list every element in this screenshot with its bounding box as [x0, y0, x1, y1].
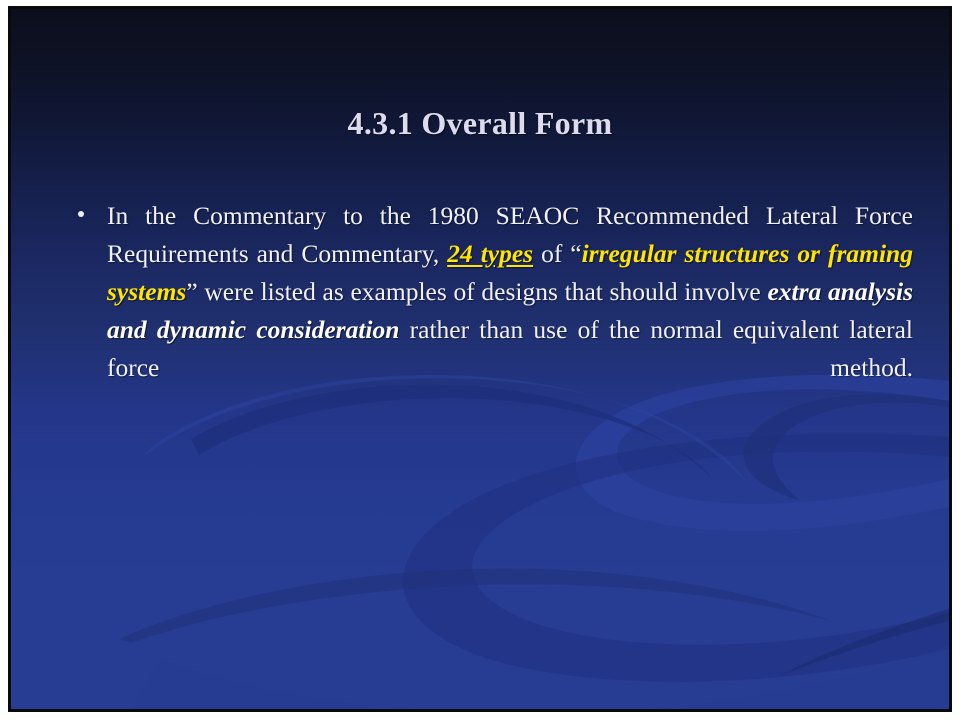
- bullet-dot-icon: [78, 211, 84, 217]
- list-item: In the Commentary to the 1980 SEAOC Reco…: [73, 197, 913, 425]
- text-run-of-quote-open: of “: [533, 239, 582, 268]
- page-title: 4.3.1 Overall Form: [11, 105, 949, 142]
- slide-root: 4.3.1 Overall Form In the Commentary to …: [0, 0, 960, 720]
- slide-frame: 4.3.1 Overall Form In the Commentary to …: [8, 6, 952, 712]
- text-run-were-listed: ” were listed as examples of designs tha…: [186, 277, 767, 306]
- body-content: In the Commentary to the 1980 SEAOC Reco…: [73, 197, 913, 425]
- emphasis-24-types: 24 types: [447, 239, 533, 268]
- bullet-paragraph: In the Commentary to the 1980 SEAOC Reco…: [107, 197, 913, 425]
- slide-canvas: 4.3.1 Overall Form In the Commentary to …: [11, 9, 949, 709]
